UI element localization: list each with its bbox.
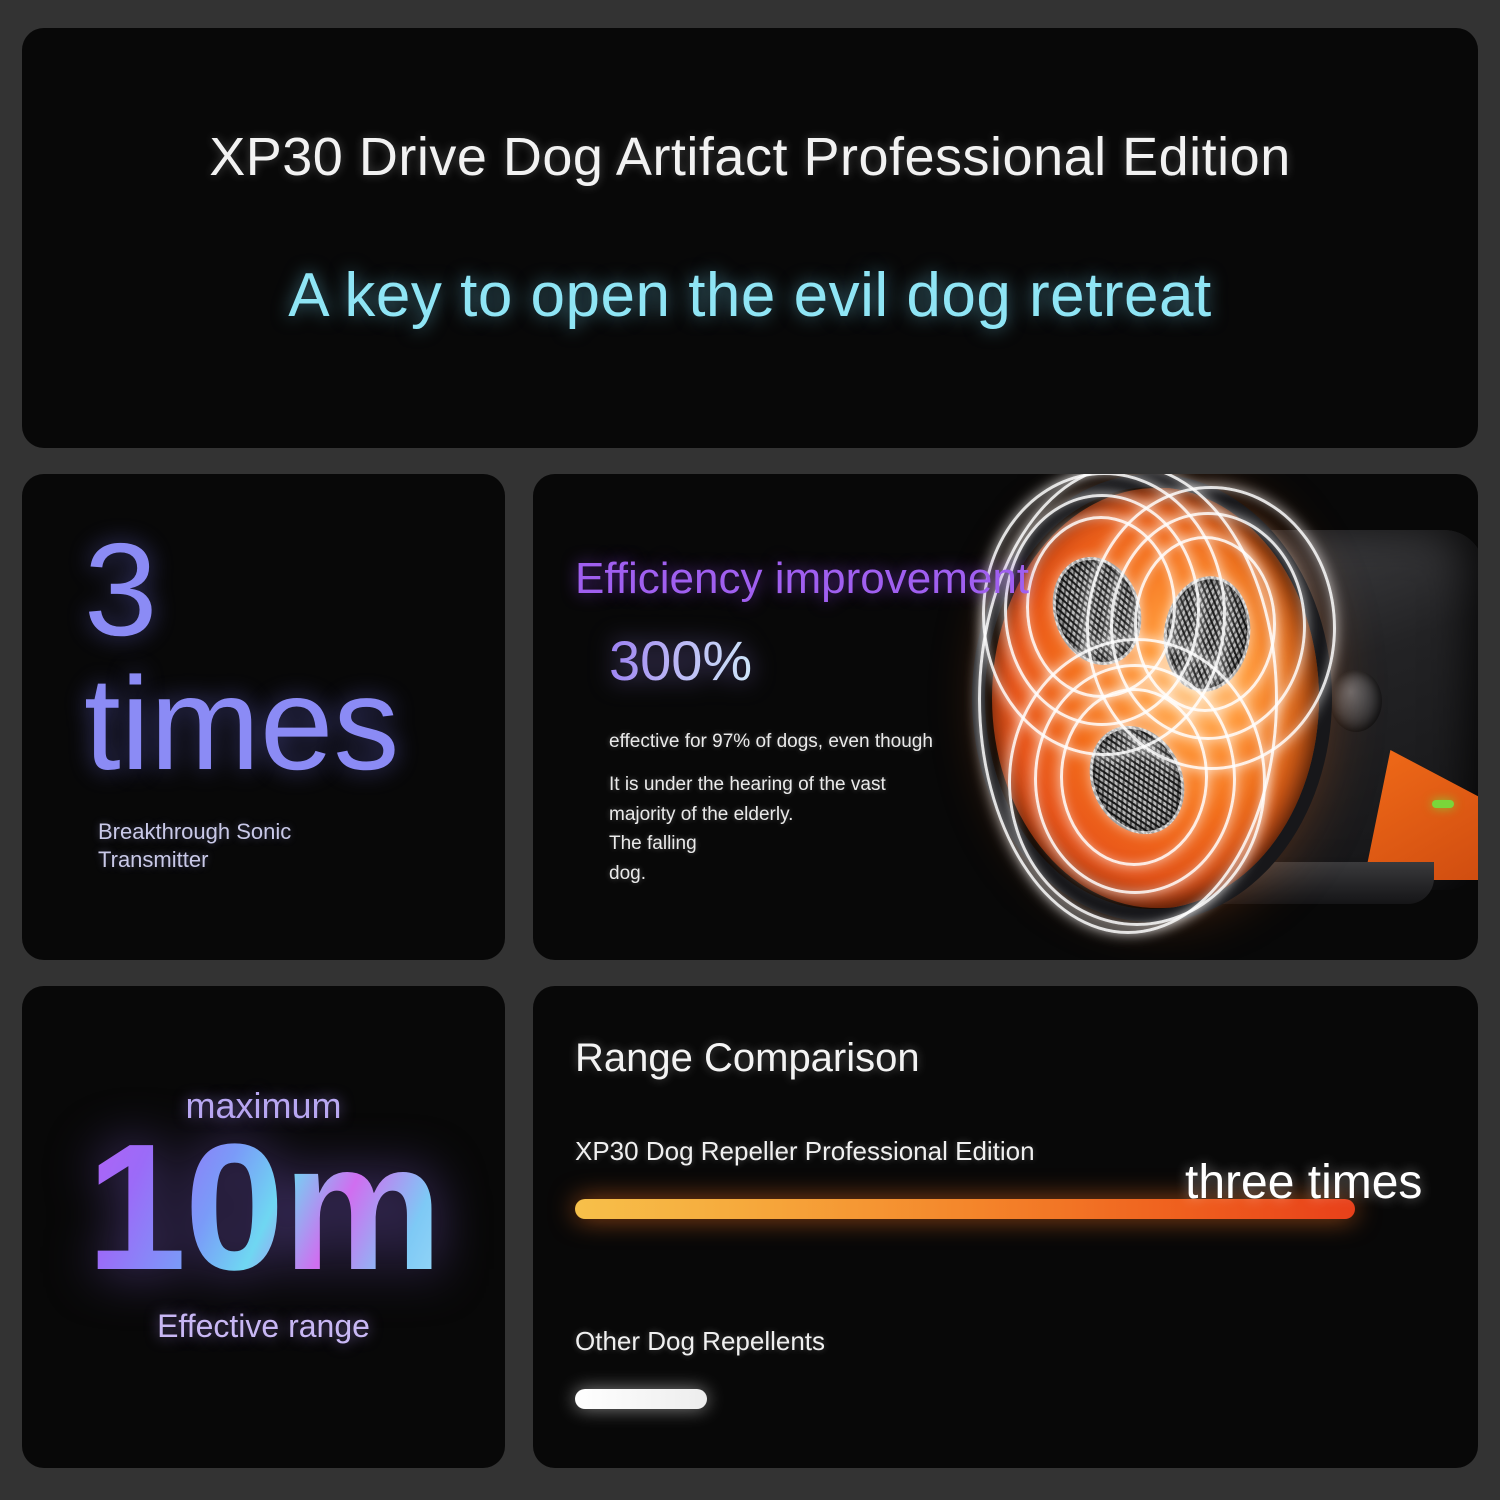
- multiplier-caption-line1: Breakthrough Sonic: [98, 818, 505, 846]
- infographic-page: XP30 Drive Dog Artifact Professional Edi…: [0, 0, 1500, 1500]
- efficiency-body-line4: The falling: [609, 829, 1478, 858]
- comparison-card: Range Comparison XP30 Dog Repeller Profe…: [533, 986, 1478, 1468]
- efficiency-body: effective for 97% of dogs, even though I…: [609, 727, 1478, 888]
- multiplier-card: 3 times Breakthrough Sonic Transmitter: [22, 474, 505, 960]
- comparison-item-label: XP30 Dog Repeller Professional Edition: [575, 1135, 1095, 1169]
- multiplier-value: 3: [84, 516, 157, 663]
- bottom-row: maximum 10m Effective range Range Compar…: [22, 986, 1478, 1468]
- efficiency-card: Efficiency improvement 300% effective fo…: [533, 474, 1478, 960]
- hero-card: XP30 Drive Dog Artifact Professional Edi…: [22, 28, 1478, 448]
- efficiency-body-line2: It is under the hearing of the vast: [609, 770, 1478, 799]
- efficiency-body-line3: majority of the elderly.: [609, 800, 1478, 829]
- multiplier-unit: times: [84, 658, 505, 790]
- comparison-bar-badge: three times: [1185, 1155, 1422, 1210]
- efficiency-text-block: Efficiency improvement 300% effective fo…: [533, 474, 1478, 888]
- comparison-item-label: Other Dog Repellents: [575, 1325, 1095, 1359]
- comparison-item-other: Other Dog Repellents: [575, 1325, 1438, 1415]
- efficiency-body-line1: effective for 97% of dogs, even though: [609, 727, 1478, 756]
- comparison-title: Range Comparison: [575, 1036, 1438, 1081]
- distance-card: maximum 10m Effective range: [22, 986, 505, 1468]
- distance-bottom-label: Effective range: [157, 1308, 370, 1345]
- comparison-bar-row: [575, 1385, 1438, 1415]
- middle-row: 3 times Breakthrough Sonic Transmitter: [22, 474, 1478, 960]
- distance-value: 10m: [86, 1113, 440, 1302]
- comparison-item-xp30: XP30 Dog Repeller Professional Edition t…: [575, 1135, 1438, 1225]
- page-title: XP30 Drive Dog Artifact Professional Edi…: [209, 126, 1291, 188]
- comparison-bar-other: [575, 1389, 707, 1409]
- multiplier-caption: Breakthrough Sonic Transmitter: [98, 818, 505, 873]
- efficiency-percent: 300%: [609, 628, 752, 693]
- multiplier-value-block: 3 times: [84, 524, 505, 790]
- hero-subtitle: A key to open the evil dog retreat: [288, 260, 1211, 331]
- multiplier-caption-line2: Transmitter: [98, 846, 505, 874]
- efficiency-title: Efficiency improvement: [575, 554, 1478, 604]
- comparison-bar-row: three times: [575, 1195, 1438, 1225]
- efficiency-body-line5: dog.: [609, 859, 1478, 888]
